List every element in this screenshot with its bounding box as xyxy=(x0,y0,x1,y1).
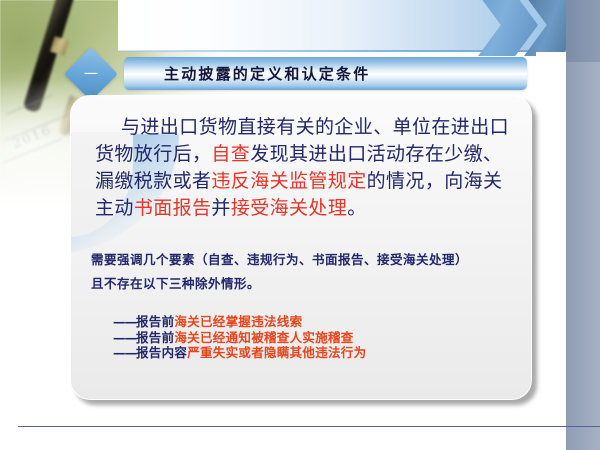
note-line-2: 且不存在以下三种除外情形。 xyxy=(91,272,521,296)
definition-line2-b: 发现其进出口活动存在 xyxy=(250,143,444,165)
definition-line4-c: 。 xyxy=(347,197,366,219)
list-item: ——报告内容严重失实或者隐瞒其他违法行为 xyxy=(113,345,366,361)
definition-line3-b: 的情 xyxy=(367,170,406,192)
definition-line4-b: 并 xyxy=(211,197,230,219)
definition-line4-highlight-a: 书面报告 xyxy=(134,197,212,219)
right-accent-band xyxy=(566,0,600,450)
slide-canvas: 2016 主动披露的定义和认定条件 一 与进出口货物直接有关的企业、单位在进出口… xyxy=(0,0,600,450)
list-item: ——报告前海关已经通知被稽查人实施稽查 xyxy=(113,330,366,346)
right-gutter xyxy=(536,52,566,450)
list-dash: —— xyxy=(113,345,136,360)
note-block: 需要强调几个要素（自查、违规行为、书面报告、接受海关处理） 且不存在以下三种除外… xyxy=(91,248,521,296)
definition-line4-highlight-b: 接受海关处理 xyxy=(231,197,347,219)
list-item-highlight: 严重失实或者隐瞒其他违法行为 xyxy=(187,345,366,360)
title-bar: 主动披露的定义和认定条件 xyxy=(124,57,527,90)
list-item-highlight: 海关已经通知被稽查人实施稽查 xyxy=(174,330,353,345)
definition-line2-highlight: 自查 xyxy=(211,143,250,165)
list-item: ——报告前海关已经掌握违法线索 xyxy=(113,314,366,330)
definition-line1: 与进出口货物直接有关的企业、单位在进出 xyxy=(121,116,490,138)
section-badge-number: 一 xyxy=(72,55,110,93)
exclusion-list: ——报告前海关已经掌握违法线索 ——报告前海关已经通知被稽查人实施稽查 ——报告… xyxy=(113,314,366,361)
page-title: 主动披露的定义和认定条件 xyxy=(164,63,370,84)
definition-line3-highlight: 违反海关监管规定 xyxy=(211,170,366,192)
definition-paragraph: 与进出口货物直接有关的企业、单位在进出口货物放行后，自查发现其进出口活动存在少缴… xyxy=(95,114,511,222)
footer-rule xyxy=(18,426,600,427)
list-dash: —— xyxy=(113,314,136,329)
list-item-prefix: 报告内容 xyxy=(136,345,187,360)
right-accent-band-top xyxy=(566,0,600,62)
list-dash: —— xyxy=(113,330,136,345)
list-item-prefix: 报告前 xyxy=(136,330,174,345)
list-item-highlight: 海关已经掌握违法线索 xyxy=(174,314,302,329)
note-line-1: 需要强调几个要素（自查、违规行为、书面报告、接受海关处理） xyxy=(91,248,521,272)
list-item-prefix: 报告前 xyxy=(136,314,174,329)
content-card: 与进出口货物直接有关的企业、单位在进出口货物放行后，自查发现其进出口活动存在少缴… xyxy=(70,95,532,400)
